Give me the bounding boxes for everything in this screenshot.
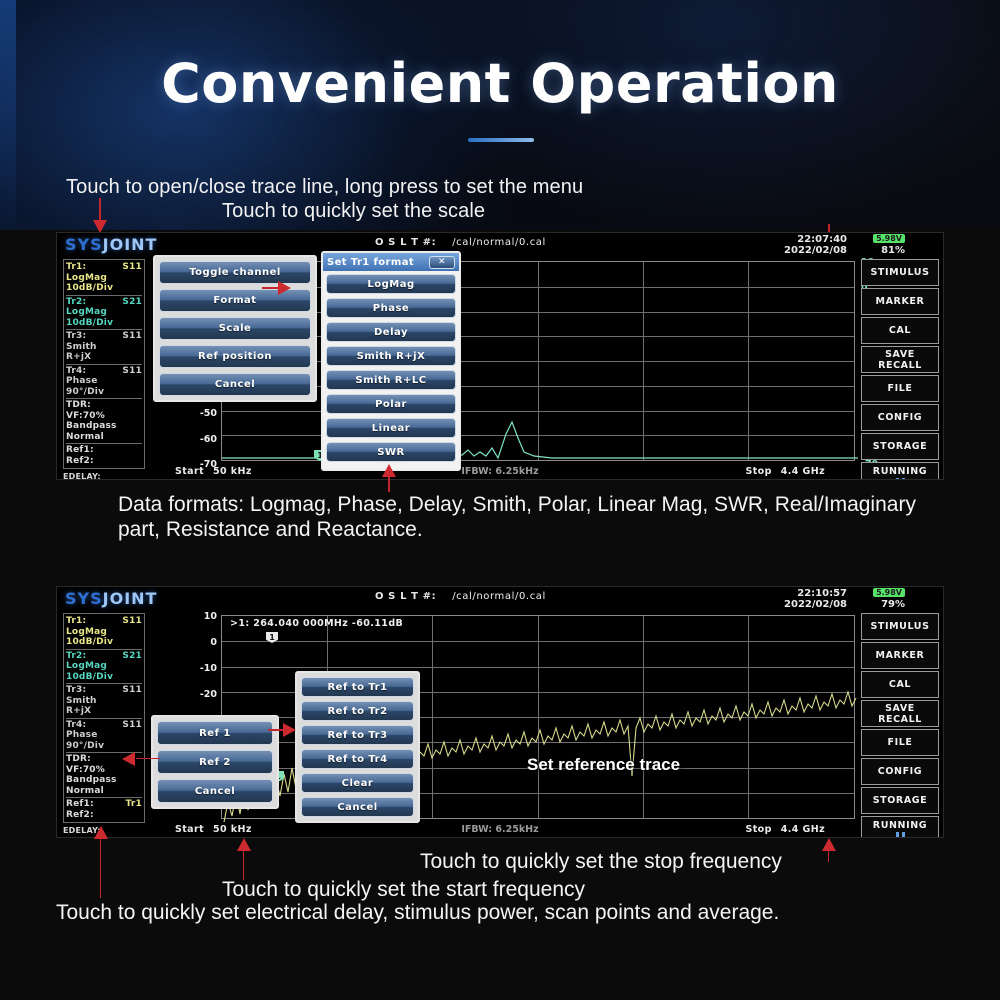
arrow-stop-frequency bbox=[822, 838, 836, 860]
device2-info-panel[interactable]: Tr1:S11 LogMag 10dB/Div Tr2:S21 LogMag 1… bbox=[63, 613, 145, 838]
menu-item-cancel[interactable]: Cancel bbox=[159, 373, 311, 396]
tdr-info[interactable]: TDR: VF:70% Bandpass Normal bbox=[66, 399, 142, 444]
device1-info-panel[interactable]: Tr1:S11 LogMag 10dB/Div Tr2:S21 LogMag 1… bbox=[63, 259, 145, 480]
format-option-logmag[interactable]: LogMag bbox=[326, 274, 456, 294]
arrow-to-swr-item bbox=[382, 464, 396, 494]
context-menu-ref[interactable]: Ref 1 Ref 2 Cancel bbox=[151, 715, 279, 809]
marker-readout: >1: 264.040 000MHz -60.11dB bbox=[230, 618, 403, 629]
dialog-title-bar: Set Tr1 format ✕ bbox=[323, 253, 459, 271]
softkey-save-recall[interactable]: SAVERECALL bbox=[861, 346, 939, 373]
dialog-title: Set Tr1 format bbox=[327, 257, 414, 268]
battery-voltage-badge: 5.98V bbox=[873, 234, 905, 243]
caption-data-formats: Data formats: Logmag, Phase, Delay, Smit… bbox=[118, 492, 958, 542]
axis-left-label: 10 bbox=[193, 611, 217, 622]
format-option-delay[interactable]: Delay bbox=[326, 322, 456, 342]
device2-bottom-bar: Start50 kHz IFBW: 6.25kHz Stop4.4 GHz bbox=[57, 821, 943, 837]
caption-start-frequency: Touch to quickly set the start frequency bbox=[222, 877, 585, 902]
menu-item-cancel[interactable]: Cancel bbox=[301, 797, 414, 817]
battery-voltage-badge: 5.98V bbox=[873, 588, 905, 597]
axis-left-label: -10 bbox=[193, 663, 217, 674]
ref-info[interactable]: Ref1:Tr1 Ref2: bbox=[66, 798, 142, 821]
softkey-storage[interactable]: STORAGE bbox=[861, 787, 939, 814]
trace-info-tr2[interactable]: Tr2:S21 LogMag 10dB/Div bbox=[66, 296, 142, 331]
softkey-config[interactable]: CONFIG bbox=[861, 758, 939, 785]
menu-item-cancel[interactable]: Cancel bbox=[157, 779, 273, 803]
title-underline bbox=[468, 138, 534, 142]
softkey-cal[interactable]: CAL bbox=[861, 317, 939, 344]
brand-logo: SYSJOINT bbox=[65, 589, 157, 608]
device-screenshot-top[interactable]: SYSJOINT O S L T #:/cal/normal/0.cal 22:… bbox=[56, 232, 944, 480]
dialog-body[interactable]: LogMag Phase Delay Smith R+jX Smith R+LC… bbox=[323, 271, 459, 469]
pause-icon bbox=[896, 478, 905, 481]
hero-light-streak bbox=[0, 0, 16, 230]
trace-info-tr3[interactable]: Tr3:S11 Smith R+jX bbox=[66, 330, 142, 365]
menu-item-scale[interactable]: Scale bbox=[159, 317, 311, 340]
arrow-ref-to-infopanel bbox=[122, 752, 160, 766]
annotation-trace-line: Touch to open/close trace line, long pre… bbox=[66, 176, 583, 199]
arrow-electrical-delay bbox=[94, 826, 108, 898]
cal-status: O S L T #:/cal/normal/0.cal bbox=[375, 591, 546, 602]
softkey-config[interactable]: CONFIG bbox=[861, 404, 939, 431]
overlay-set-reference-trace: Set reference trace bbox=[527, 755, 680, 775]
menu-item-ref-position[interactable]: Ref position bbox=[159, 345, 311, 368]
device1-trace-s21 bbox=[222, 262, 858, 464]
stop-frequency[interactable]: Stop4.4 GHz bbox=[745, 466, 825, 477]
softkey-running[interactable]: RUNNING bbox=[861, 462, 939, 480]
arrow-to-format-item bbox=[262, 281, 294, 295]
trace-info-tr1[interactable]: Tr1:S11 LogMag 10dB/Div bbox=[66, 615, 142, 650]
device1-softkey-column[interactable]: STIMULUS MARKER CAL SAVERECALL FILE CONF… bbox=[861, 259, 939, 480]
brand-logo: SYSJOINT bbox=[65, 235, 157, 254]
format-option-linear[interactable]: Linear bbox=[326, 418, 456, 438]
arrow-ref1-to-refto bbox=[268, 723, 300, 737]
axis-left-label: -50 bbox=[193, 408, 217, 419]
menu-item-ref-to-tr1[interactable]: Ref to Tr1 bbox=[301, 677, 414, 697]
trace-info-tr1[interactable]: Tr1:S11 LogMag 10dB/Div bbox=[66, 261, 142, 296]
pause-icon bbox=[896, 832, 905, 839]
format-option-smith-rlc[interactable]: Smith R+LC bbox=[326, 370, 456, 390]
device2-top-bar: SYSJOINT O S L T #:/cal/normal/0.cal 22:… bbox=[57, 587, 943, 613]
annotation-scale: Touch to quickly set the scale bbox=[222, 200, 485, 223]
format-option-phase[interactable]: Phase bbox=[326, 298, 456, 318]
dialog-set-tr1-format[interactable]: Set Tr1 format ✕ LogMag Phase Delay Smit… bbox=[321, 251, 461, 471]
softkey-marker[interactable]: MARKER bbox=[861, 288, 939, 315]
context-menu-trace[interactable]: Toggle channel Format Scale Ref position… bbox=[153, 255, 317, 402]
caption-electrical-delay: Touch to quickly set electrical delay, s… bbox=[56, 900, 976, 925]
caption-stop-frequency: Touch to quickly set the stop frequency bbox=[420, 849, 782, 874]
trace-info-tr2[interactable]: Tr2:S21 LogMag 10dB/Div bbox=[66, 650, 142, 685]
ifbw-readout: IFBW: 6.25kHz bbox=[461, 466, 538, 477]
close-icon[interactable]: ✕ bbox=[429, 256, 455, 269]
cal-status: O S L T #:/cal/normal/0.cal bbox=[375, 237, 546, 248]
menu-item-ref2[interactable]: Ref 2 bbox=[157, 750, 273, 774]
format-option-polar[interactable]: Polar bbox=[326, 394, 456, 414]
softkey-cal[interactable]: CAL bbox=[861, 671, 939, 698]
axis-left-label: 0 bbox=[193, 637, 217, 648]
softkey-file[interactable]: FILE bbox=[861, 729, 939, 756]
arrow-start-frequency bbox=[237, 838, 251, 880]
softkey-marker[interactable]: MARKER bbox=[861, 642, 939, 669]
menu-item-ref-to-tr2[interactable]: Ref to Tr2 bbox=[301, 701, 414, 721]
menu-item-ref1[interactable]: Ref 1 bbox=[157, 721, 273, 745]
device-screenshot-bottom[interactable]: SYSJOINT O S L T #:/cal/normal/0.cal 22:… bbox=[56, 586, 944, 838]
format-option-smith-rjx[interactable]: Smith R+jX bbox=[326, 346, 456, 366]
clock-readout: 22:10:57 2022/02/08 bbox=[784, 588, 847, 610]
stop-frequency[interactable]: Stop4.4 GHz bbox=[745, 824, 825, 835]
device2-softkey-column[interactable]: STIMULUS MARKER CAL SAVERECALL FILE CONF… bbox=[861, 613, 939, 838]
ifbw-readout: IFBW: 6.25kHz bbox=[461, 824, 538, 835]
softkey-stimulus[interactable]: STIMULUS bbox=[861, 259, 939, 286]
softkey-file[interactable]: FILE bbox=[861, 375, 939, 402]
battery-percent: 81% bbox=[881, 245, 905, 256]
menu-item-ref-to-tr3[interactable]: Ref to Tr3 bbox=[301, 725, 414, 745]
axis-left-label: -20 bbox=[193, 689, 217, 700]
battery-percent: 79% bbox=[881, 599, 905, 610]
axis-left-label: -60 bbox=[193, 434, 217, 445]
device1-bottom-bar: Start50 kHz IFBW: 6.25kHz Stop4.4 GHz bbox=[57, 463, 943, 479]
trace-info-tr3[interactable]: Tr3:S11 Smith R+jX bbox=[66, 684, 142, 719]
softkey-storage[interactable]: STORAGE bbox=[861, 433, 939, 460]
clock-readout: 22:07:40 2022/02/08 bbox=[784, 234, 847, 256]
page-title: Convenient Operation bbox=[0, 52, 1000, 115]
menu-item-clear[interactable]: Clear bbox=[301, 773, 414, 793]
format-option-swr[interactable]: SWR bbox=[326, 442, 456, 462]
context-menu-ref-to-trace[interactable]: Ref to Tr1 Ref to Tr2 Ref to Tr3 Ref to … bbox=[295, 671, 420, 823]
menu-item-ref-to-tr4[interactable]: Ref to Tr4 bbox=[301, 749, 414, 769]
start-frequency[interactable]: Start50 kHz bbox=[175, 466, 252, 477]
trace-info-tr4[interactable]: Tr4:S11 Phase 90°/Div bbox=[66, 719, 142, 754]
arrow-trace-line bbox=[93, 198, 107, 234]
softkey-running[interactable]: RUNNING bbox=[861, 816, 939, 838]
softkey-stimulus[interactable]: STIMULUS bbox=[861, 613, 939, 640]
softkey-save-recall[interactable]: SAVERECALL bbox=[861, 700, 939, 727]
trace-info-tr4[interactable]: Tr4:S11 Phase 90°/Div bbox=[66, 365, 142, 400]
start-frequency[interactable]: Start50 kHz bbox=[175, 824, 252, 835]
